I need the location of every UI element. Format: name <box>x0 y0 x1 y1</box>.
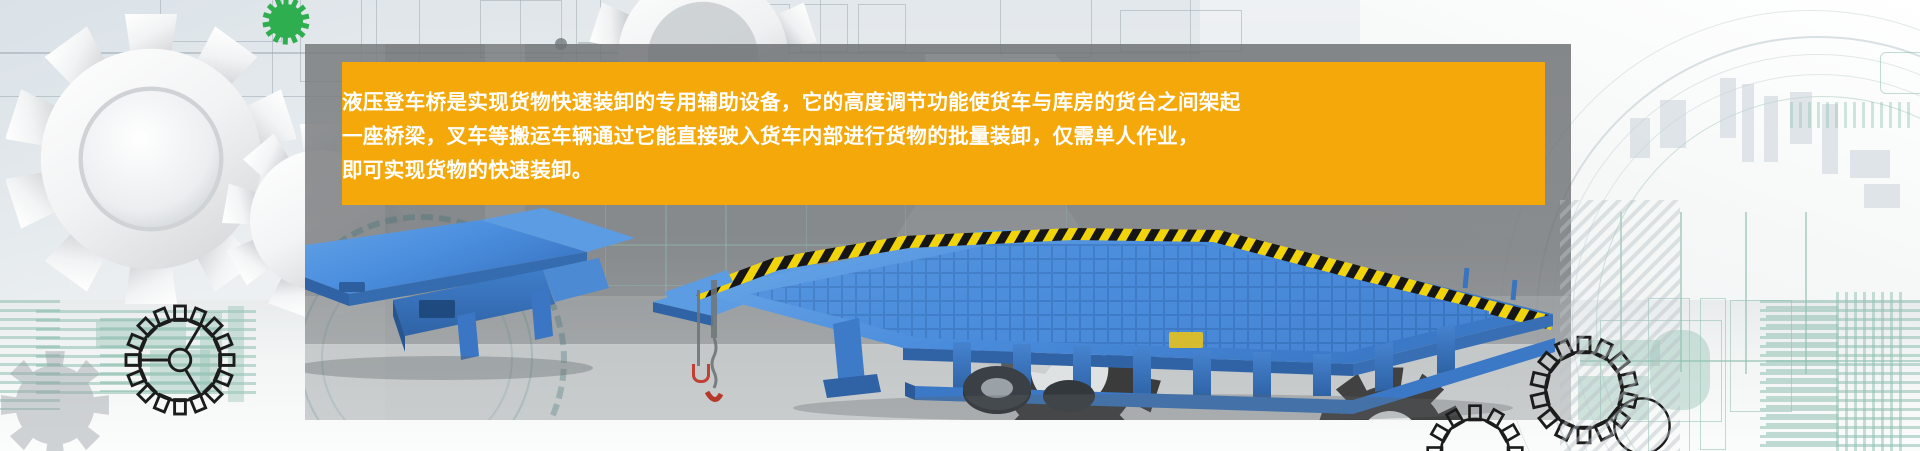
green-gear-top <box>261 0 311 46</box>
bg-green-rect <box>1700 298 1726 450</box>
mobile-yard-ramp <box>653 196 1571 420</box>
bg-hud-bar <box>1660 100 1686 148</box>
bg-hud-bar <box>1790 92 1812 144</box>
bg-hud-bar <box>1630 118 1650 158</box>
bg-diagonal-hatch <box>1560 200 1680 451</box>
bg-green-line <box>1680 212 1682 372</box>
bg-green-line <box>1805 212 1807 374</box>
bg-green-rect <box>1730 300 1792 412</box>
outline-gear-bottom-center <box>1420 398 1530 451</box>
description-line-3: 即可实现货物的快速装卸。 <box>342 154 1545 188</box>
product-banner: 液压登车桥是实现货物快速装卸的专用辅助设备，它的高度调节功能使货车与库房的货台之… <box>0 0 1920 451</box>
bg-hud-bar <box>1742 84 1754 162</box>
product-photo-panel: 液压登车桥是实现货物快速装卸的专用辅助设备，它的高度调节功能使货车与库房的货台之… <box>305 44 1571 420</box>
dark-gear-left-bottom <box>0 350 110 451</box>
bg-circuit-rect <box>1880 52 1920 94</box>
chain <box>697 290 700 366</box>
hook-icon <box>692 364 710 383</box>
bg-hud-bar <box>1720 78 1736 138</box>
description-line-1: 液压登车桥是实现货物快速装卸的专用辅助设备，它的高度调节功能使货车与库房的货台之… <box>342 86 1545 120</box>
description-textbox: 液压登车桥是实现货物快速装卸的专用辅助设备，它的高度调节功能使货车与库房的货台之… <box>342 62 1545 205</box>
outline-gear-bottom-left <box>120 300 240 425</box>
bg-hud-grille <box>1790 102 1910 128</box>
description-line-2: 一座桥梁，叉车等搬运车辆通过它能直接驶入货车内部进行货物的批量装卸，仅需单人作业… <box>342 120 1545 154</box>
stationary-dock-leveler <box>305 196 663 386</box>
bg-green-hatch-v <box>1836 292 1906 451</box>
bg-hud-bar <box>1822 104 1838 174</box>
bg-green-hatch <box>1760 300 1920 450</box>
bg-green-line <box>1745 212 1747 374</box>
description-text: 液压登车桥是实现货物快速装卸的专用辅助设备，它的高度调节功能使货车与库房的货台之… <box>305 86 1545 188</box>
bg-green-hatch <box>1766 306 1838 448</box>
bg-hud-bar <box>1864 184 1900 208</box>
bg-hud-bar <box>1764 96 1778 162</box>
bg-hud-bar <box>1850 150 1890 178</box>
